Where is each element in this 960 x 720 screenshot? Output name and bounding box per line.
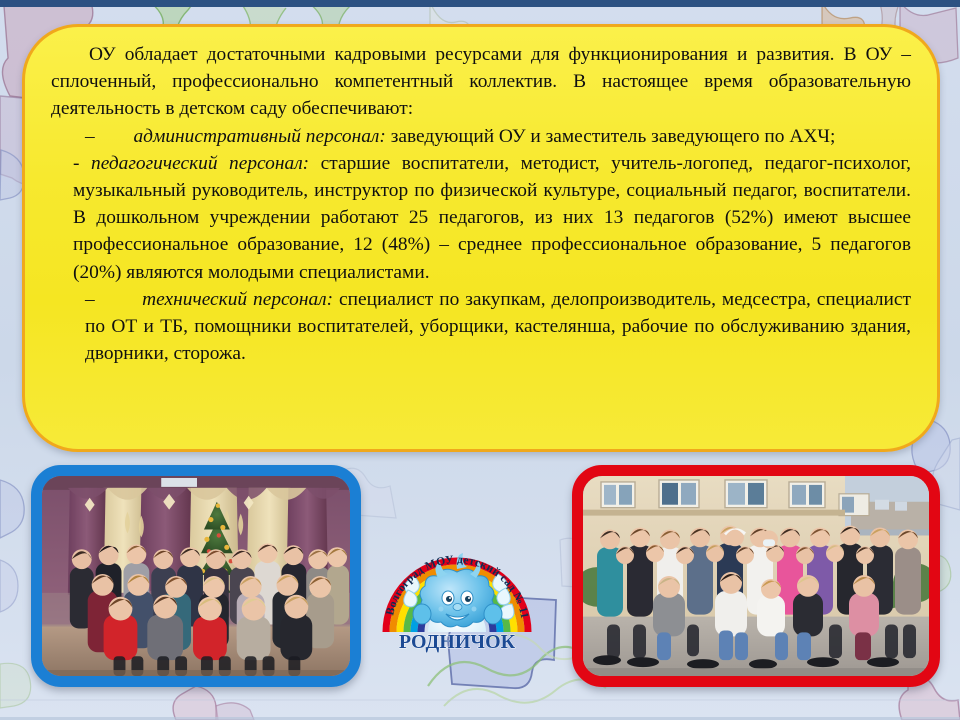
photo-right-group-outdoor: [583, 476, 929, 676]
paragraph-pedagogical: - педагогический персонал: старшие воспи…: [51, 150, 911, 286]
label-technical: технический персонал:: [142, 289, 333, 310]
text-card-body: ОУ обладает достаточными кадровыми ресур…: [51, 41, 911, 367]
text-administrative: заведующий ОУ и заместитель заведующего …: [391, 126, 836, 147]
photo-left-group-indoor: [42, 476, 350, 676]
list-marker-pedagogical: -: [73, 153, 79, 174]
label-pedagogical: педагогический персонал:: [91, 153, 309, 174]
list-marker-technical: –: [85, 289, 95, 310]
slide-root: ОУ обладает достаточными кадровыми ресур…: [0, 0, 960, 720]
text-card: ОУ обладает достаточными кадровыми ресур…: [22, 24, 940, 452]
top-accent-strip: [0, 0, 960, 7]
label-administrative: административный персонал:: [133, 126, 385, 147]
logo-name: РОДНИЧОК: [399, 631, 516, 653]
paragraph-technical: – технический персонал: специалист по за…: [51, 286, 911, 368]
photo-frame-right[interactable]: [572, 465, 940, 687]
photo-frame-left[interactable]: [31, 465, 361, 687]
paragraph-intro: ОУ обладает достаточными кадровыми ресур…: [51, 41, 911, 123]
kindergarten-logo: Волгоград МОУ детский сад № 11 РОДНИЧОК: [378, 542, 536, 654]
list-marker-administrative: –: [85, 126, 95, 147]
paragraph-administrative: – административный персонал: заведующий …: [51, 123, 911, 150]
